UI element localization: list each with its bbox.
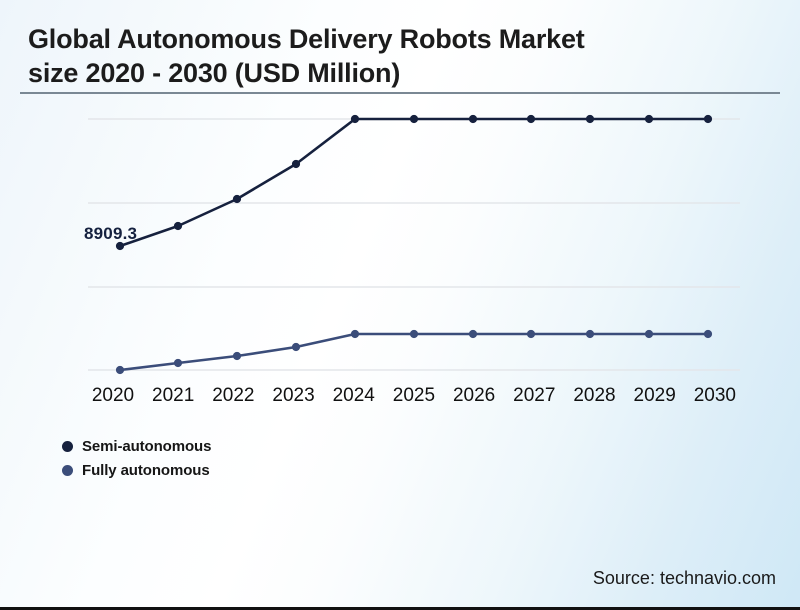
legend-item-0[interactable]: Semi-autonomous <box>62 434 211 458</box>
x-axis-tick-2022: 2022 <box>203 385 263 407</box>
data-point-marker[interactable] <box>645 115 653 123</box>
legend-item-1[interactable]: Fully autonomous <box>62 458 211 482</box>
x-axis-tick-2030: 2030 <box>685 385 745 407</box>
legend-dot-icon <box>62 441 73 452</box>
x-axis-tick-2023: 2023 <box>264 385 324 407</box>
x-axis-tick-2026: 2026 <box>444 385 504 407</box>
x-axis-tick-2020: 2020 <box>83 385 143 407</box>
data-point-marker[interactable] <box>704 330 712 338</box>
data-point-marker[interactable] <box>174 222 182 230</box>
data-point-marker[interactable] <box>174 359 182 367</box>
data-point-marker[interactable] <box>527 115 535 123</box>
data-point-marker[interactable] <box>527 330 535 338</box>
series-line-1 <box>120 334 708 370</box>
chart-page: Global Autonomous Delivery Robots Market… <box>0 0 800 610</box>
plot-area <box>0 0 800 610</box>
x-axis-tick-2025: 2025 <box>384 385 444 407</box>
line-chart-svg <box>0 0 800 610</box>
data-point-marker[interactable] <box>704 115 712 123</box>
data-point-marker[interactable] <box>233 352 241 360</box>
x-axis-tick-2029: 2029 <box>625 385 685 407</box>
data-point-marker[interactable] <box>292 343 300 351</box>
data-point-marker[interactable] <box>292 160 300 168</box>
x-axis-tick-2028: 2028 <box>565 385 625 407</box>
data-point-marker[interactable] <box>116 366 124 374</box>
x-axis-labels: 2020202120222023202420252026202720282029… <box>88 385 740 407</box>
legend-dot-icon <box>62 465 73 476</box>
x-axis-tick-2024: 2024 <box>324 385 384 407</box>
x-axis-tick-2027: 2027 <box>504 385 564 407</box>
data-point-marker[interactable] <box>351 115 359 123</box>
legend-item-label: Semi-autonomous <box>82 438 211 455</box>
data-point-marker[interactable] <box>410 330 418 338</box>
source-attribution: Source: technavio.com <box>593 568 776 589</box>
data-point-marker[interactable] <box>586 330 594 338</box>
series-line-0 <box>120 119 708 246</box>
data-point-marker[interactable] <box>645 330 653 338</box>
series-group <box>116 115 712 374</box>
x-axis-tick-2021: 2021 <box>143 385 203 407</box>
data-point-marker[interactable] <box>469 115 477 123</box>
data-point-marker[interactable] <box>351 330 359 338</box>
chart-legend: Semi-autonomousFully autonomous <box>62 434 211 482</box>
data-point-marker[interactable] <box>410 115 418 123</box>
data-point-marker[interactable] <box>586 115 594 123</box>
data-point-marker[interactable] <box>233 195 241 203</box>
data-point-label: 8909.3 <box>84 224 137 244</box>
data-point-marker[interactable] <box>469 330 477 338</box>
legend-item-label: Fully autonomous <box>82 462 210 479</box>
